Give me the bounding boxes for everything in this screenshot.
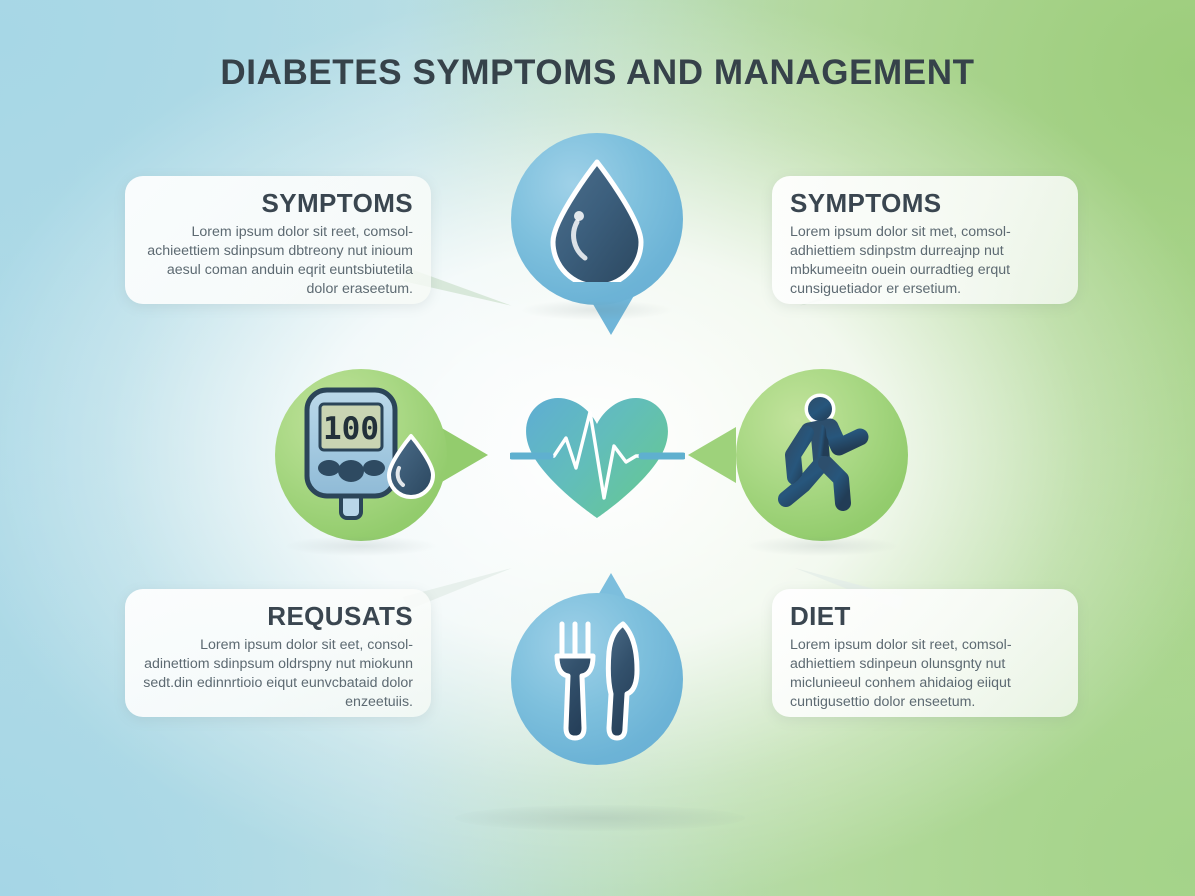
glucose-reading-value: 100 bbox=[323, 411, 379, 447]
node-shadow-top bbox=[522, 300, 672, 320]
page-title: DIABETES SYMPTOMS AND MANAGEMENT bbox=[0, 53, 1195, 93]
blood-drop-icon bbox=[511, 133, 683, 305]
heart-pulse-icon bbox=[510, 390, 685, 525]
callout-card-bottom-left[interactable]: REQUSATS Lorem ipsum dolor sit eet, cons… bbox=[125, 589, 431, 717]
callout-card-top-left[interactable]: SYMPTOMS Lorem ipsum dolor sit reet, com… bbox=[125, 176, 431, 304]
callout-card-top-right[interactable]: SYMPTOMS Lorem ipsum dolor sit met, coms… bbox=[772, 176, 1078, 304]
callout-body-bottom-right: Lorem ipsum dolor sit reet, comsol-adhie… bbox=[790, 636, 1060, 711]
callout-title-top-right: SYMPTOMS bbox=[790, 190, 1060, 217]
node-pointer-left bbox=[440, 427, 488, 483]
running-person-icon bbox=[736, 369, 908, 541]
callout-body-bottom-left: Lorem ipsum dolor sit eet, consol-adinet… bbox=[143, 636, 413, 711]
callout-card-bottom-right[interactable]: DIET Lorem ipsum dolor sit reet, comsol-… bbox=[772, 589, 1078, 717]
fork-knife-icon bbox=[511, 593, 683, 765]
node-shadow-left bbox=[286, 536, 436, 556]
infographic-canvas: DIABETES SYMPTOMS AND MANAGEMENT SYMPTOM… bbox=[0, 0, 1195, 896]
node-diet-bottom[interactable] bbox=[511, 593, 683, 765]
node-pointer-right bbox=[688, 427, 736, 483]
node-symptoms-top[interactable] bbox=[511, 133, 683, 305]
node-blood-sugar-left[interactable]: 100 bbox=[275, 369, 447, 541]
node-exercise-right[interactable] bbox=[736, 369, 908, 541]
callout-title-top-left: SYMPTOMS bbox=[143, 190, 413, 217]
glucose-meter-icon: 100 bbox=[275, 369, 447, 541]
ground-shadow bbox=[455, 805, 745, 831]
callout-body-top-right: Lorem ipsum dolor sit met, comsol-adhiet… bbox=[790, 223, 1060, 298]
node-shadow-right bbox=[747, 536, 897, 556]
callout-body-top-left: Lorem ipsum dolor sit reet, comsol-achie… bbox=[143, 223, 413, 298]
callout-title-bottom-left: REQUSATS bbox=[143, 603, 413, 630]
callout-title-bottom-right: DIET bbox=[790, 603, 1060, 630]
